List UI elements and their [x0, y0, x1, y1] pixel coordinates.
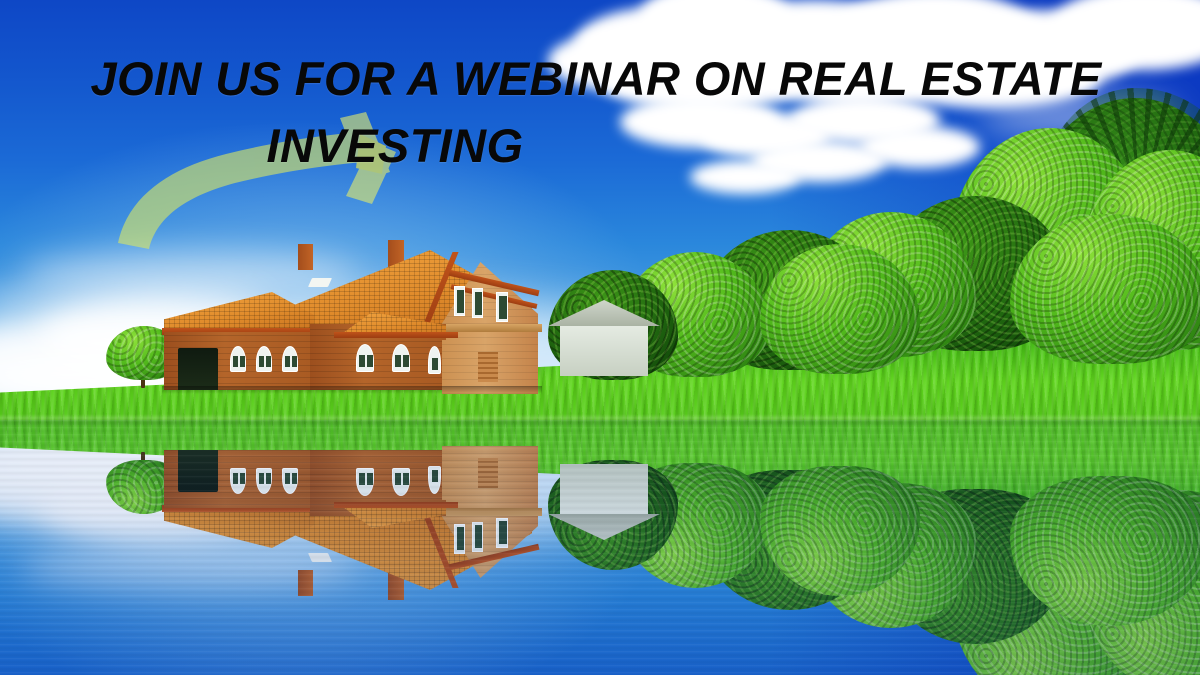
- porch-eave: [334, 332, 458, 338]
- skylight-1-reflected: [308, 553, 332, 562]
- window-pane: [499, 296, 507, 319]
- window-arched-6: [428, 346, 441, 374]
- brick-stack: [478, 352, 498, 382]
- window-pane: [395, 355, 401, 367]
- window-pane: [266, 356, 271, 367]
- window-pane: [259, 356, 264, 367]
- window-upper-1: [454, 286, 465, 316]
- chimney-left-reflected: [298, 570, 313, 596]
- window-pane: [240, 473, 245, 484]
- house: [160, 236, 550, 396]
- background-building: [560, 320, 648, 376]
- cloud-mid-f: [690, 160, 800, 194]
- window-pane: [233, 356, 238, 367]
- window-pane: [403, 473, 409, 485]
- chimney-left: [298, 244, 313, 270]
- window-pane: [403, 355, 409, 367]
- window-arched-5: [392, 344, 410, 372]
- scene-reflection: [0, 420, 1200, 675]
- window-pane: [292, 356, 297, 367]
- garage-door-reflected: [178, 450, 218, 492]
- window-pane: [292, 473, 297, 484]
- promo-banner: JOIN US FOR A WEBINAR ON REAL ESTATE INV…: [0, 0, 1200, 675]
- window-upper-3-reflected: [496, 518, 508, 548]
- window-pane: [367, 473, 373, 485]
- window-pane: [285, 356, 290, 367]
- window-pane: [359, 355, 365, 367]
- window-pane: [233, 473, 238, 484]
- window-pane: [240, 356, 245, 367]
- window-pane: [432, 358, 438, 370]
- background-building-reflected: [560, 464, 648, 520]
- window-arched-4: [356, 344, 374, 372]
- house-reflected: [160, 444, 550, 604]
- window-pane: [475, 525, 482, 548]
- skylight-1: [308, 278, 332, 287]
- window-arched-3: [282, 346, 298, 372]
- window-upper-2: [472, 288, 483, 318]
- window-arched-2: [256, 346, 272, 372]
- porch-eave-reflected: [334, 502, 458, 508]
- scene-upper: [0, 0, 1200, 420]
- window-pane: [395, 473, 401, 485]
- balcony-slab-reflected: [446, 508, 542, 516]
- window-pane: [367, 355, 373, 367]
- window-upper-3: [496, 292, 508, 322]
- window-pane: [285, 473, 290, 484]
- window-pane: [432, 470, 438, 482]
- window-arched-1: [230, 346, 246, 372]
- window-upper-2-reflected: [472, 522, 483, 552]
- brick-stack-reflected: [478, 458, 498, 488]
- window-pane: [359, 473, 365, 485]
- house-base-shadow: [162, 386, 542, 394]
- window-pane: [475, 292, 482, 315]
- window-pane: [499, 521, 507, 544]
- window-pane: [457, 527, 464, 550]
- window-pane: [259, 473, 264, 484]
- balcony-slab: [446, 324, 542, 332]
- window-upper-1-reflected: [454, 524, 465, 554]
- garage-door: [178, 348, 218, 390]
- window-pane: [266, 473, 271, 484]
- window-pane: [457, 290, 464, 313]
